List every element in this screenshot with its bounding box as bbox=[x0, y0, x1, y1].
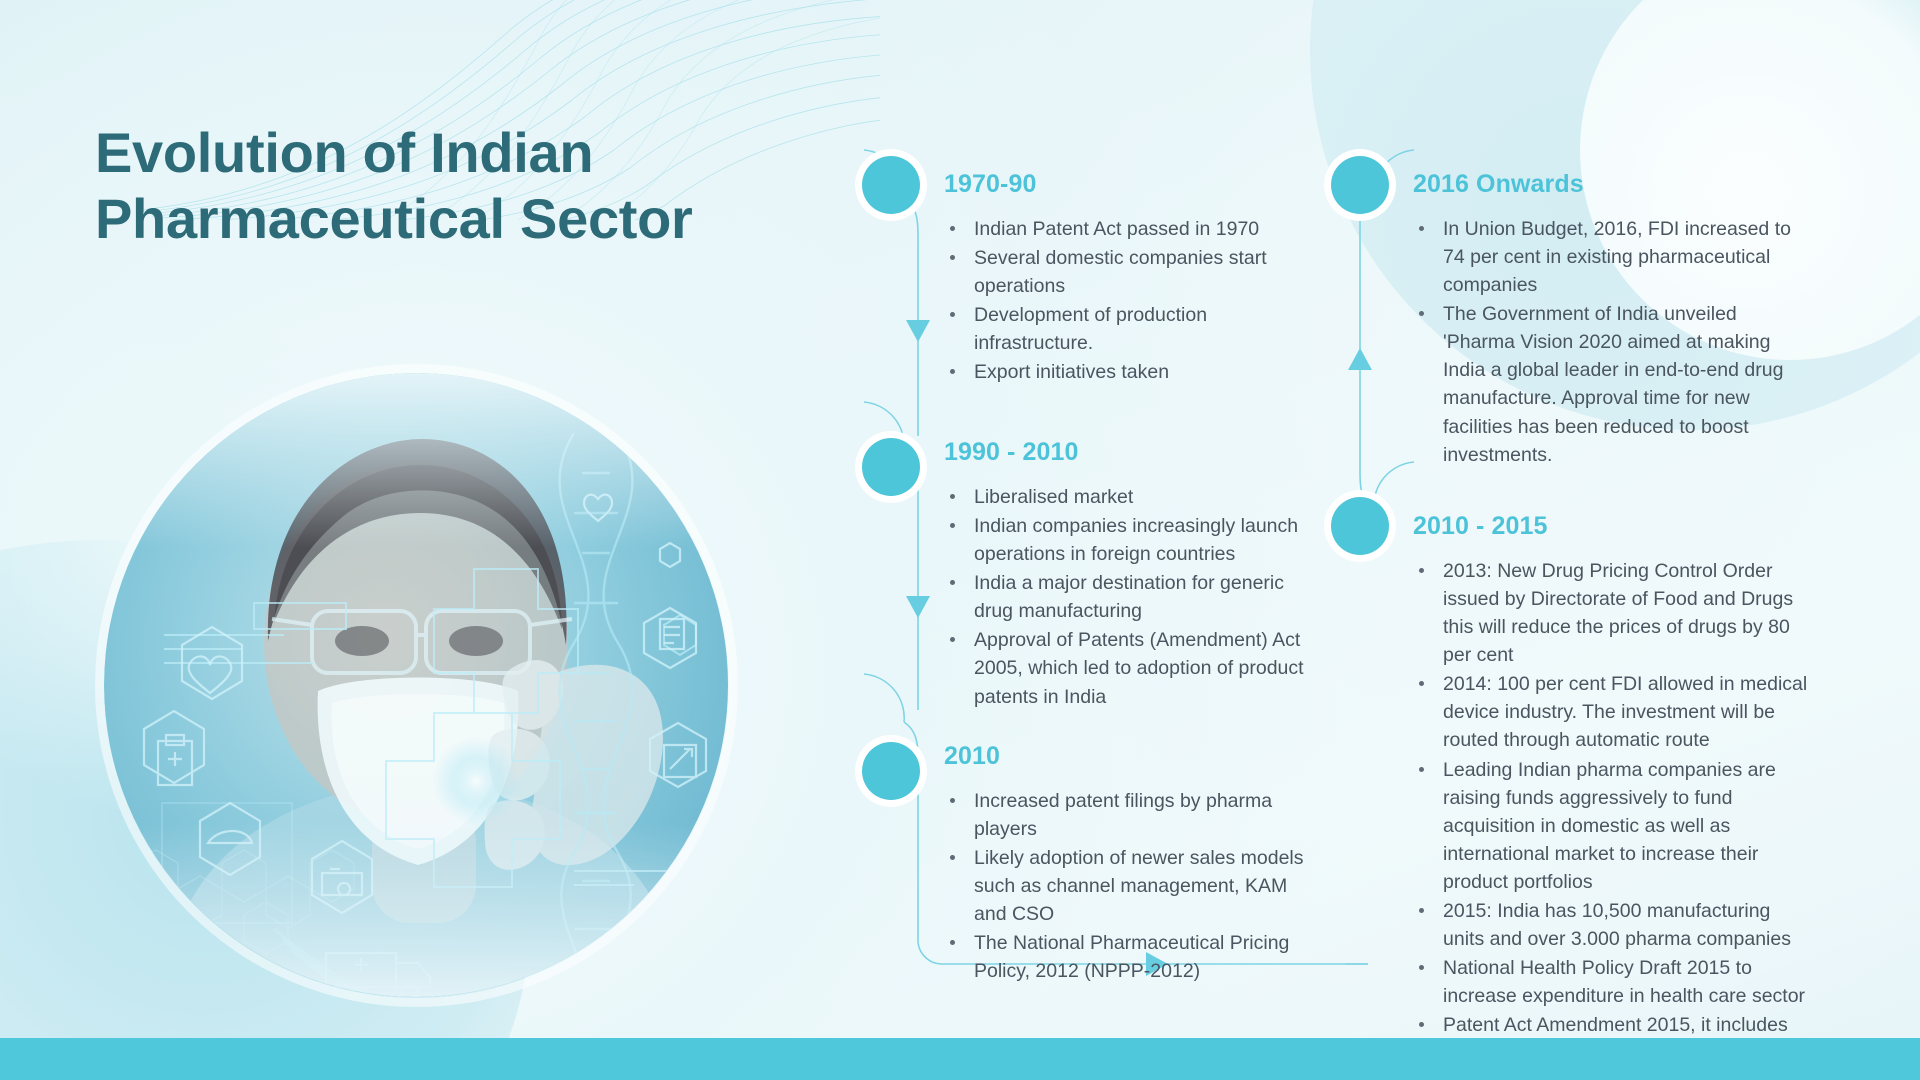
list-item: Development of production infrastructure… bbox=[944, 301, 1316, 357]
list-item: Indian Patent Act passed in 1970 bbox=[944, 215, 1316, 243]
arrow-up-1 bbox=[1348, 348, 1372, 370]
list-item: National Health Policy Draft 2015 to inc… bbox=[1413, 954, 1813, 1010]
timeline-dot-1970-90[interactable] bbox=[862, 156, 920, 214]
list-item: Likely adoption of newer sales models su… bbox=[944, 844, 1316, 928]
list-item: India a major destination for generic dr… bbox=[944, 569, 1316, 625]
timeline-dot-1990-2010[interactable] bbox=[862, 438, 920, 496]
timeline-block-2010: 2010 Increased patent filings by pharma … bbox=[944, 742, 1316, 987]
timeline-dot-2016-onwards[interactable] bbox=[1331, 156, 1389, 214]
timeline-heading: 1990 - 2010 bbox=[944, 438, 1316, 467]
list-item: 2013: New Drug Pricing Control Order iss… bbox=[1413, 557, 1813, 669]
timeline-bullet-list: Indian Patent Act passed in 1970 Several… bbox=[944, 215, 1316, 386]
list-item: Indian companies increasingly launch ope… bbox=[944, 512, 1316, 568]
timeline-bullet-list: Increased patent filings by pharma playe… bbox=[944, 787, 1316, 986]
list-item: In Union Budget, 2016, FDI increased to … bbox=[1413, 215, 1803, 299]
list-item: Approval of Patents (Amendment) Act 2005… bbox=[944, 626, 1316, 710]
list-item: 2014: 100 per cent FDI allowed in medica… bbox=[1413, 670, 1813, 754]
timeline-bullet-list: In Union Budget, 2016, FDI increased to … bbox=[1413, 215, 1803, 469]
list-item: Increased patent filings by pharma playe… bbox=[944, 787, 1316, 843]
timeline-dot-2010[interactable] bbox=[862, 742, 920, 800]
timeline-bullet-list: Liberalised market Indian companies incr… bbox=[944, 483, 1316, 711]
timeline-block-1990-2010: 1990 - 2010 Liberalised market Indian co… bbox=[944, 438, 1316, 712]
timeline-block-1970-90: 1970-90 Indian Patent Act passed in 1970… bbox=[944, 170, 1316, 387]
list-item: The National Pharmaceutical Pricing Poli… bbox=[944, 929, 1316, 985]
list-item: Export initiatives taken bbox=[944, 358, 1316, 386]
arrow-down-2 bbox=[906, 596, 930, 618]
list-item: 2015: India has 10,500 manufacturing uni… bbox=[1413, 897, 1813, 953]
timeline-block-2016-onwards: 2016 Onwards In Union Budget, 2016, FDI … bbox=[1413, 170, 1803, 470]
timeline-block-2010-2015: 2010 - 2015 2013: New Drug Pricing Contr… bbox=[1413, 512, 1813, 1068]
timeline-bullet-list: 2013: New Drug Pricing Control Order iss… bbox=[1413, 557, 1813, 1067]
bottom-accent-bar bbox=[0, 1038, 1920, 1080]
list-item: Liberalised market bbox=[944, 483, 1316, 511]
timeline-heading: 1970-90 bbox=[944, 170, 1316, 199]
timeline-heading: 2016 Onwards bbox=[1413, 170, 1803, 199]
timeline-heading: 2010 - 2015 bbox=[1413, 512, 1813, 541]
timeline-dot-2010-2015[interactable] bbox=[1331, 497, 1389, 555]
timeline: 1970-90 Indian Patent Act passed in 1970… bbox=[0, 0, 1920, 1080]
timeline-heading: 2010 bbox=[944, 742, 1316, 771]
slide-canvas: Evolution of Indian Pharmaceutical Secto… bbox=[0, 0, 1920, 1080]
list-item: Several domestic companies start operati… bbox=[944, 244, 1316, 300]
list-item: Leading Indian pharma companies are rais… bbox=[1413, 756, 1813, 896]
arrow-down-1 bbox=[906, 320, 930, 342]
list-item: The Government of India unveiled 'Pharma… bbox=[1413, 300, 1803, 468]
